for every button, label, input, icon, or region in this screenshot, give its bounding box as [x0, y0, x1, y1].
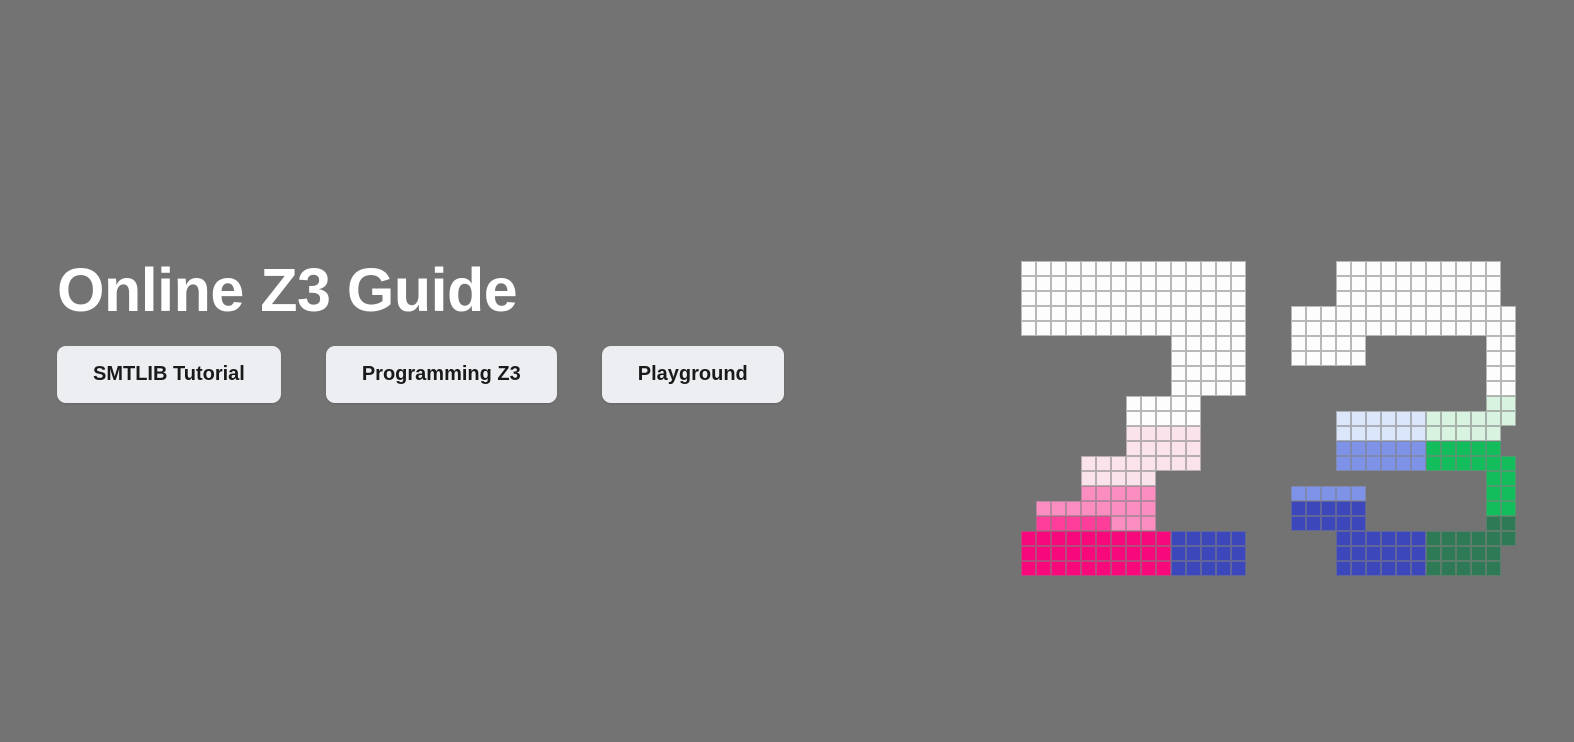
smtlib-tutorial-button[interactable]: SMTLIB Tutorial [57, 346, 281, 403]
z3-pixel-logo [1021, 261, 1521, 581]
programming-z3-button[interactable]: Programming Z3 [326, 346, 557, 403]
pixel-glyph-z [1021, 261, 1246, 576]
hero-section: Online Z3 Guide SMTLIB Tutorial Programm… [0, 0, 1574, 742]
playground-button[interactable]: Playground [602, 346, 784, 403]
page-title: Online Z3 Guide [57, 258, 957, 322]
hero-text-block: Online Z3 Guide SMTLIB Tutorial Programm… [57, 258, 957, 403]
cta-button-row: SMTLIB Tutorial Programming Z3 Playgroun… [57, 346, 957, 403]
pixel-glyph-3 [1291, 261, 1516, 576]
